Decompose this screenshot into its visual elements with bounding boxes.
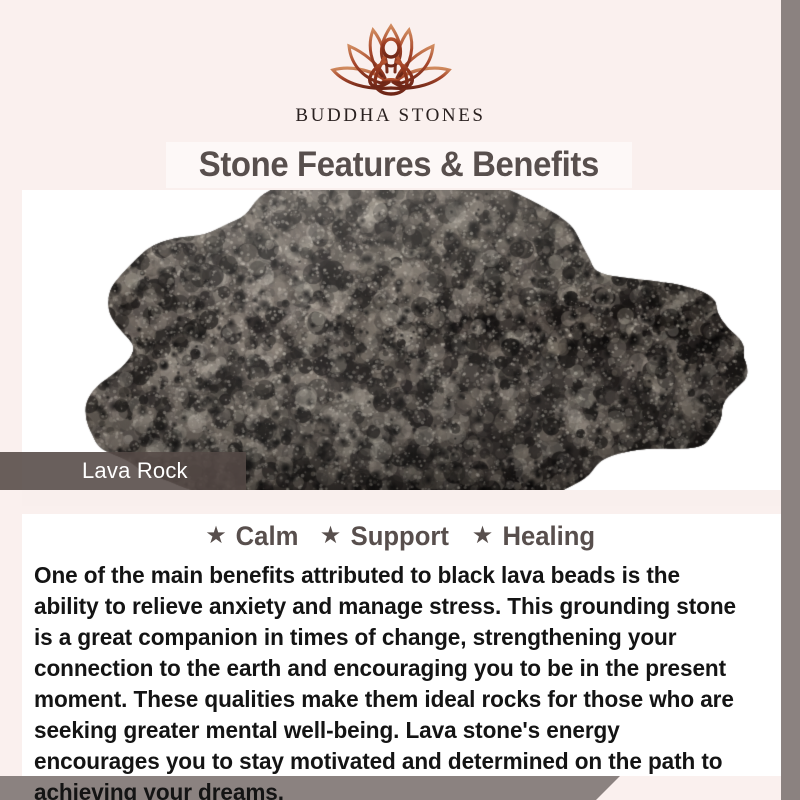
decorative-frame-right <box>781 0 800 800</box>
benefit-label-support: Support <box>351 521 449 552</box>
star-icon: ★ <box>205 524 227 548</box>
benefit-item-healing: ★ Healing <box>472 521 598 552</box>
infographic-card: BUDDHA STONES Stone Features & Benefits … <box>0 0 800 800</box>
benefit-item-calm: ★ Calm <box>205 521 300 552</box>
page-title: Stone Features & Benefits <box>199 145 599 185</box>
brand-header: BUDDHA STONES <box>0 0 781 140</box>
benefits-row: ★ Calm ★ Support ★ Healing <box>22 514 781 558</box>
stone-name-label: Lava Rock <box>82 458 188 484</box>
stone-name-bar: Lava Rock <box>0 452 246 490</box>
benefit-label-healing: Healing <box>503 521 596 552</box>
star-icon: ★ <box>472 524 494 548</box>
brand-wordmark: BUDDHA STONES <box>295 105 485 127</box>
benefit-label-calm: Calm <box>235 521 298 552</box>
description-paragraph: One of the main benefits attributed to b… <box>34 560 740 800</box>
star-icon: ★ <box>320 524 342 548</box>
hero-image-container <box>22 190 781 490</box>
description-container: One of the main benefits attributed to b… <box>22 558 781 776</box>
section-divider <box>22 490 781 506</box>
card-surface: BUDDHA STONES Stone Features & Benefits … <box>0 0 781 776</box>
title-band: Stone Features & Benefits <box>166 142 632 188</box>
benefit-item-support: ★ Support <box>320 521 452 552</box>
lotus-meditation-icon <box>327 18 455 102</box>
lava-rock-photo <box>22 190 781 490</box>
